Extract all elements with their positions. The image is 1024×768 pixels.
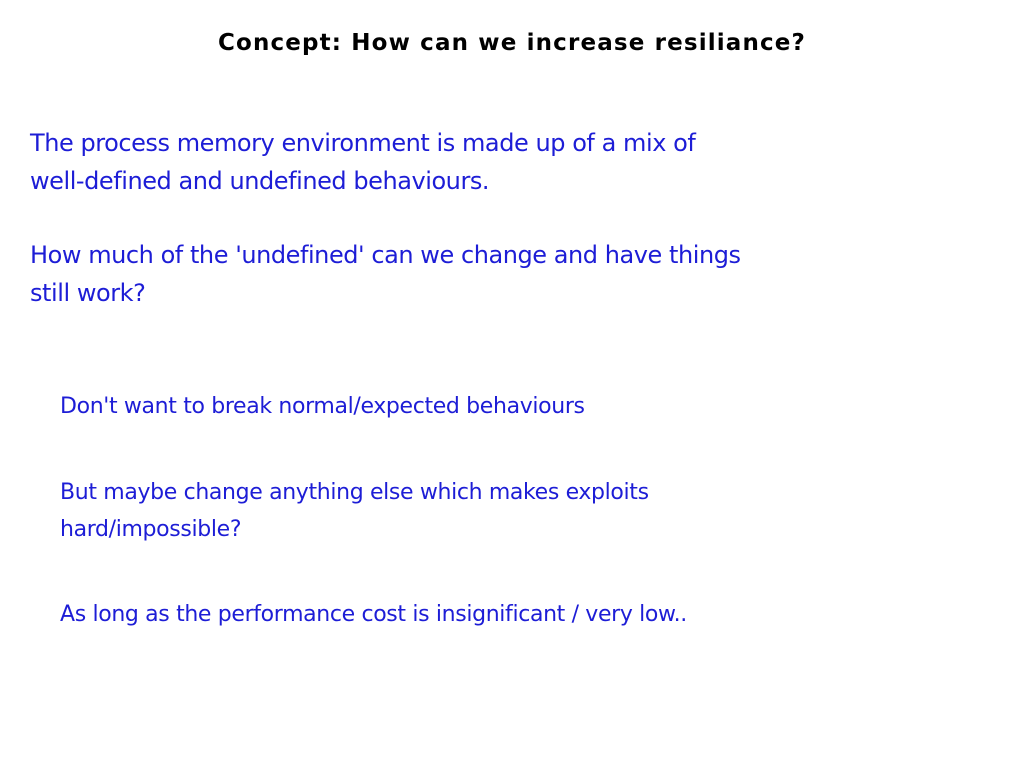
sub-point-3: As long as the performance cost is insig… — [60, 596, 920, 633]
slide-canvas: Concept: How can we increase resiliance?… — [0, 0, 1024, 768]
slide-title: Concept: How can we increase resiliance? — [0, 29, 1024, 57]
sub-point-1: Don't want to break normal/expected beha… — [60, 388, 880, 425]
body-paragraph-2: How much of the 'undefined' can we chang… — [30, 236, 890, 312]
body-paragraph-1: The process memory environment is made u… — [30, 124, 860, 200]
sub-point-2: But maybe change anything else which mak… — [60, 474, 860, 548]
